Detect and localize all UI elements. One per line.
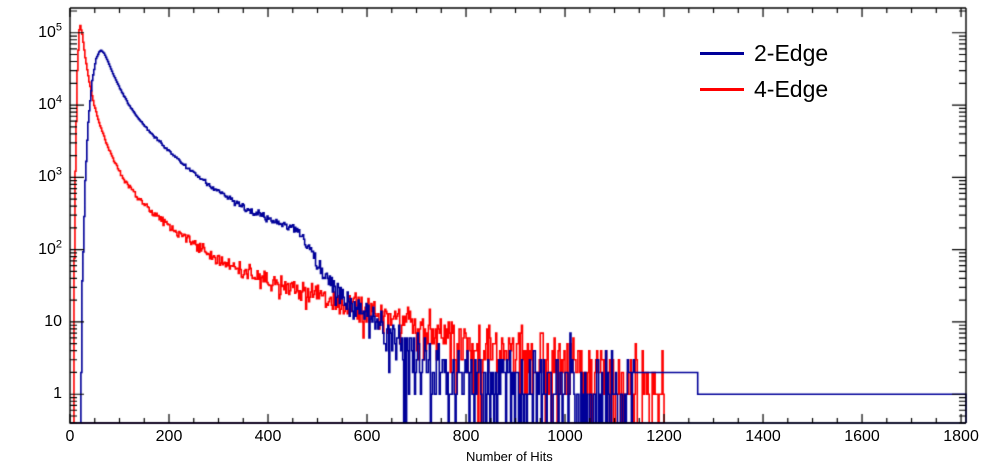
y-tick-label: 102: [38, 241, 62, 259]
x-tick-label: 0: [66, 428, 75, 446]
x-axis-title: Number of Hits: [466, 449, 553, 464]
x-tick-label: 800: [453, 428, 480, 446]
y-tick-label: 104: [38, 96, 62, 114]
y-tick-label: 103: [38, 168, 62, 186]
y-tick-label: 10: [44, 313, 62, 331]
x-tick-label: 1200: [646, 428, 682, 446]
legend-entry-2-edge: 2-Edge: [700, 36, 828, 70]
legend-entry-4-edge: 4-Edge: [700, 72, 828, 106]
y-tick-label: 105: [38, 24, 62, 42]
legend-swatch-4-edge: [700, 88, 744, 91]
figure-root: 2-Edge 4-Edge Number of Hits 02004006008…: [0, 0, 996, 472]
y-tick-label: 1: [53, 385, 62, 403]
x-tick-label: 1600: [844, 428, 880, 446]
x-tick-label: 1000: [547, 428, 583, 446]
x-tick-label: 600: [354, 428, 381, 446]
x-tick-label: 200: [156, 428, 183, 446]
x-tick-label: 1800: [943, 428, 979, 446]
legend: 2-Edge 4-Edge: [700, 36, 880, 108]
x-tick-label: 400: [255, 428, 282, 446]
legend-label-2-edge: 2-Edge: [754, 42, 828, 65]
legend-label-4-edge: 4-Edge: [754, 78, 828, 101]
x-tick-label: 1400: [745, 428, 781, 446]
legend-swatch-2-edge: [700, 52, 744, 55]
